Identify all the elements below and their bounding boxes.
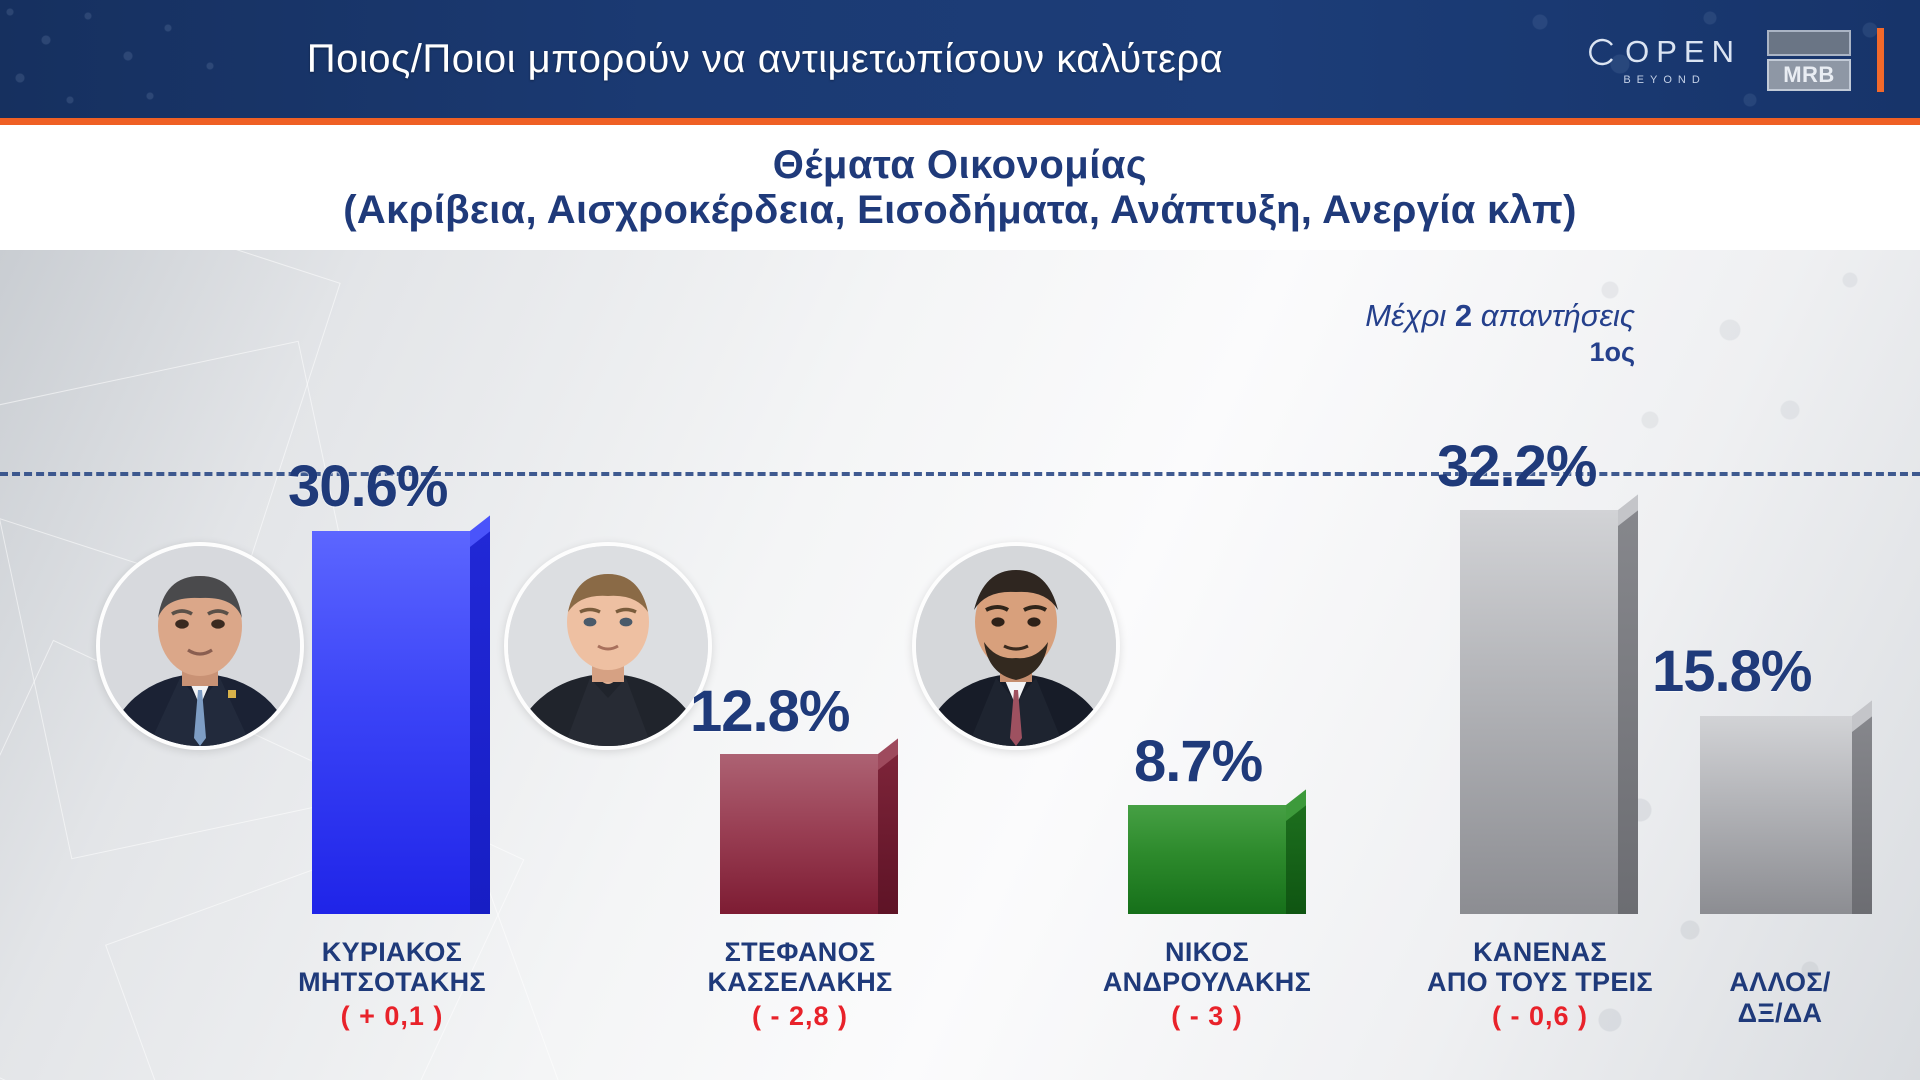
bar-androulakis[interactable]: [1128, 805, 1286, 914]
avatar: [96, 542, 304, 750]
bar-side-face: [1852, 716, 1872, 914]
banner-orange-underline: [0, 118, 1920, 125]
answers-note-line-2: 1ος: [1365, 337, 1635, 369]
avatar: [912, 542, 1120, 750]
bar-side-face: [878, 754, 898, 914]
caption-name-line-2: ΜΗΤΣΟΤΑΚΗΣ: [212, 967, 572, 998]
delta-badge-3: ( - 3 ): [1027, 1001, 1387, 1032]
subtitle-block: Θέματα Οικονομίας (Ακρίβεια, Αισχροκέρδε…: [0, 125, 1920, 250]
caption-name-line-1: ΝΙΚΟΣ: [1027, 937, 1387, 968]
open-logo-text: OPEN: [1625, 34, 1741, 70]
subtitle-line-1: Θέματα Οικονομίας: [773, 143, 1147, 188]
delta-badge-1: ( + 0,1 ): [212, 1001, 572, 1032]
caption-name-line-1: ΑΛΛΟΣ/: [1600, 967, 1920, 998]
bar-kanenas[interactable]: [1460, 510, 1618, 914]
caption-name-line-1: ΚΥΡΙΑΚΟΣ: [212, 937, 572, 968]
note-count: 2: [1455, 298, 1472, 333]
bar-side-face: [1286, 805, 1306, 914]
bar-side-face: [470, 531, 490, 914]
bar-front-face: [1460, 510, 1618, 914]
value-label-3: 8.7%: [1134, 728, 1262, 795]
caption-1: ΚΥΡΙΑΚΟΣ ΜΗΤΣΟΤΑΚΗΣ ( + 0,1 ): [212, 937, 572, 1032]
bar-mitsotakis[interactable]: [312, 531, 470, 914]
note-suffix: απαντήσεις: [1472, 298, 1635, 333]
bar-front-face: [1700, 716, 1852, 914]
bar-front-face: [1128, 805, 1286, 914]
mrb-top-bar: [1767, 30, 1851, 56]
mrb-logo: MRB: [1767, 30, 1851, 91]
open-wordmark: OPEN: [1588, 34, 1741, 70]
logo-group: OPEN BEYOND MRB: [1588, 28, 1884, 92]
orange-accent-bar: [1877, 28, 1884, 92]
delta-badge-2: ( - 2,8 ): [620, 1001, 980, 1032]
portrait-kasselakis: [508, 546, 708, 746]
bar-front-face: [720, 754, 878, 914]
avatar: [504, 542, 712, 750]
bar-front-face: [312, 531, 470, 914]
value-label-5: 15.8%: [1652, 638, 1811, 705]
portrait-androulakis: [916, 546, 1116, 746]
open-circle-icon: [1588, 37, 1616, 67]
value-label-1: 30.6%: [288, 453, 447, 520]
answers-note: Μέχρι 2 απαντήσεις 1ος: [1365, 298, 1635, 368]
caption-5: ΑΛΛΟΣ/ ΔΞ/ΔΑ: [1600, 967, 1920, 1032]
chart-area: Μέχρι 2 απαντήσεις 1ος: [0, 250, 1920, 1080]
bar-kasselakis[interactable]: [720, 754, 878, 914]
bar-allos[interactable]: [1700, 716, 1852, 914]
banner-title: Ποιος/Ποιοι μπορούν να αντιμετωπίσουν κα…: [0, 0, 1530, 118]
caption-name-line-2: ΑΝΔΡΟΥΛΑΚΗΣ: [1027, 967, 1387, 998]
mrb-logo-text: MRB: [1767, 59, 1851, 91]
note-prefix: Μέχρι: [1365, 298, 1455, 333]
portrait-mitsotakis: [100, 546, 300, 746]
caption-2: ΣΤΕΦΑΝΟΣ ΚΑΣΣΕΛΑΚΗΣ ( - 2,8 ): [620, 937, 980, 1032]
caption-name-line-1: ΣΤΕΦΑΝΟΣ: [620, 937, 980, 968]
value-label-2: 12.8%: [690, 678, 849, 745]
caption-3: ΝΙΚΟΣ ΑΝΔΡΟΥΛΑΚΗΣ ( - 3 ): [1027, 937, 1387, 1032]
caption-name-line-2: ΔΞ/ΔΑ: [1600, 998, 1920, 1029]
caption-name-line-1: ΚΑΝΕΝΑΣ: [1360, 937, 1720, 968]
answers-note-line-1: Μέχρι 2 απαντήσεις: [1365, 298, 1635, 335]
subtitle-line-2: (Ακρίβεια, Αισχροκέρδεια, Εισοδήματα, Αν…: [343, 188, 1576, 233]
caption-name-line-2: ΚΑΣΣΕΛΑΚΗΣ: [620, 967, 980, 998]
open-beyond-subtext: BEYOND: [1623, 74, 1705, 86]
top-banner: Ποιος/Ποιοι μπορούν να αντιμετωπίσουν κα…: [0, 0, 1920, 118]
open-beyond-logo: OPEN BEYOND: [1588, 34, 1741, 86]
value-label-4: 32.2%: [1437, 433, 1596, 500]
bar-side-face: [1618, 510, 1638, 914]
